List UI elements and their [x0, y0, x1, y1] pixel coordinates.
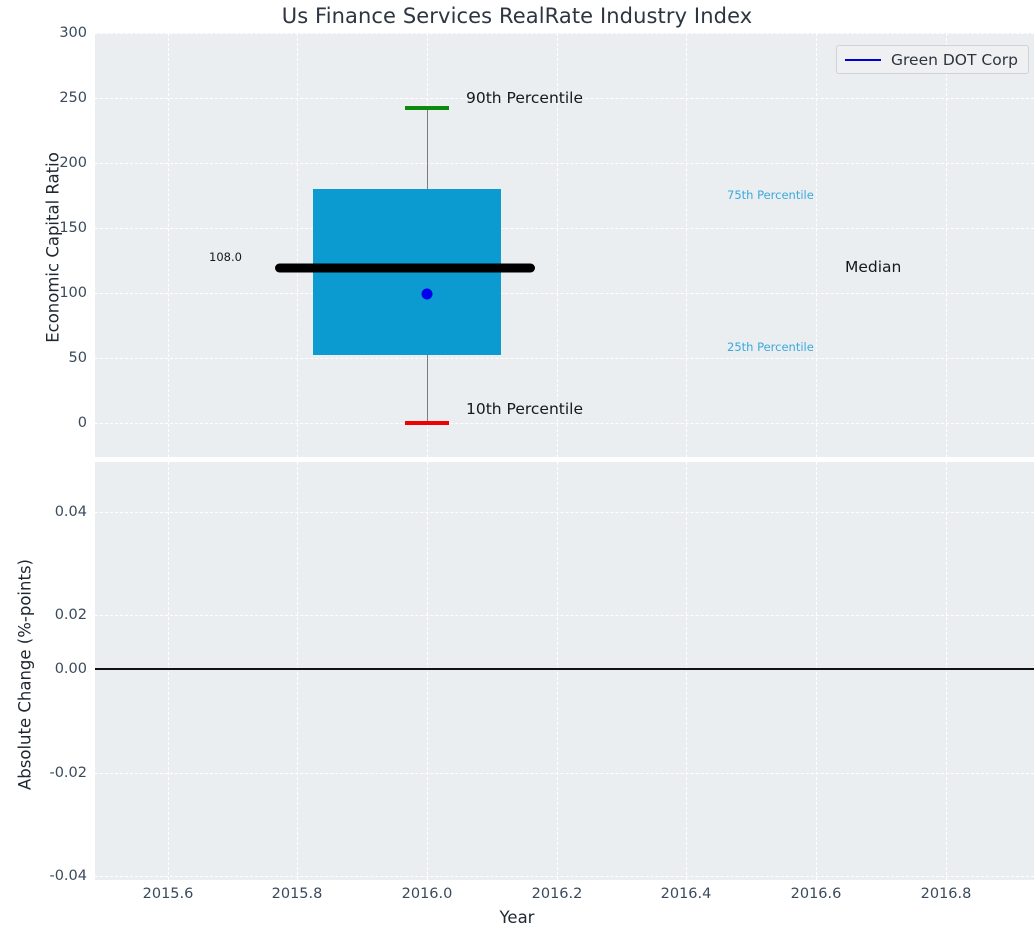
- gridline-lower-x-2016-6: [816, 462, 817, 880]
- chart-figure: Us Finance Services RealRate Industry In…: [0, 0, 1034, 942]
- gridline-y-150: [95, 228, 1034, 229]
- chart-title: Us Finance Services RealRate Industry In…: [0, 4, 1034, 28]
- gridline-lower-neg0-04: [95, 876, 1034, 877]
- ytick-250: 250: [41, 90, 87, 106]
- gridline-x-2016-4: [686, 33, 687, 457]
- gridline-y-100: [95, 293, 1034, 294]
- legend-entry-label: Green DOT Corp: [891, 51, 1018, 69]
- gridline-y-50: [95, 358, 1034, 359]
- company-value-marker: [422, 289, 433, 300]
- ytick-lower-0-00: 0.00: [27, 661, 87, 677]
- lower-gridlines: [95, 462, 1034, 880]
- ytick-0: 0: [41, 415, 87, 431]
- x-axis-label: Year: [0, 908, 1034, 927]
- gridline-lower-x-2016-2: [557, 462, 558, 880]
- gridline-y-300: [95, 33, 1034, 34]
- annotation-25th-percentile: 25th Percentile: [727, 340, 814, 354]
- gridline-lower-0-02: [95, 615, 1034, 616]
- upper-y-axis-label: Economic Capital Ratio: [44, 148, 63, 348]
- gridline-lower-x-2016-0: [427, 462, 428, 880]
- xtick-2015-8: 2015.8: [272, 886, 323, 902]
- xtick-2016-4: 2016.4: [661, 886, 712, 902]
- xtick-2016-8: 2016.8: [921, 886, 972, 902]
- gridline-lower-x-2015-6: [168, 462, 169, 880]
- median-line: [275, 264, 535, 273]
- annotation-median: Median: [845, 258, 901, 276]
- ytick-50: 50: [41, 350, 87, 366]
- xtick-2016-0: 2016.0: [402, 886, 453, 902]
- gridline-x-2015-6: [168, 33, 169, 457]
- lower-y-axis-label: Absolute Change (%-points): [16, 530, 35, 820]
- p90-cap-marker: [405, 106, 449, 110]
- lower-plot-panel: [95, 462, 1034, 880]
- ytick-lower-0-02: 0.02: [27, 607, 87, 623]
- annotation-75th-percentile: 75th Percentile: [727, 188, 814, 202]
- ytick-lower-neg0-04: -0.04: [27, 868, 87, 884]
- gridline-x-2016-8: [946, 33, 947, 457]
- median-value-label: 108.0: [209, 250, 242, 264]
- ytick-lower-neg0-02: -0.02: [27, 765, 87, 781]
- xtick-2016-6: 2016.6: [791, 886, 842, 902]
- annotation-10th-percentile: 10th Percentile: [466, 400, 583, 418]
- xtick-2015-6: 2015.6: [143, 886, 194, 902]
- gridline-x-2016-6: [816, 33, 817, 457]
- xtick-2016-2: 2016.2: [532, 886, 583, 902]
- gridline-lower-x-2016-8: [946, 462, 947, 880]
- gridline-x-2015-8: [297, 33, 298, 457]
- gridline-y-200: [95, 163, 1034, 164]
- gridline-lower-x-2015-8: [297, 462, 298, 880]
- chart-legend[interactable]: Green DOT Corp: [836, 45, 1029, 74]
- ytick-300: 300: [41, 25, 87, 41]
- gridline-lower-neg0-02: [95, 773, 1034, 774]
- gridline-lower-0-04: [95, 512, 1034, 513]
- legend-line-icon: [845, 59, 881, 61]
- zero-reference-line: [95, 668, 1034, 670]
- gridline-y-0: [95, 423, 1034, 424]
- annotation-90th-percentile: 90th Percentile: [466, 89, 583, 107]
- upper-plot-panel: 108.0 90th Percentile 75th Percentile Me…: [95, 33, 1034, 457]
- gridline-lower-x-2016-4: [686, 462, 687, 880]
- ytick-lower-0-04: 0.04: [27, 504, 87, 520]
- p10-cap-marker: [405, 421, 449, 425]
